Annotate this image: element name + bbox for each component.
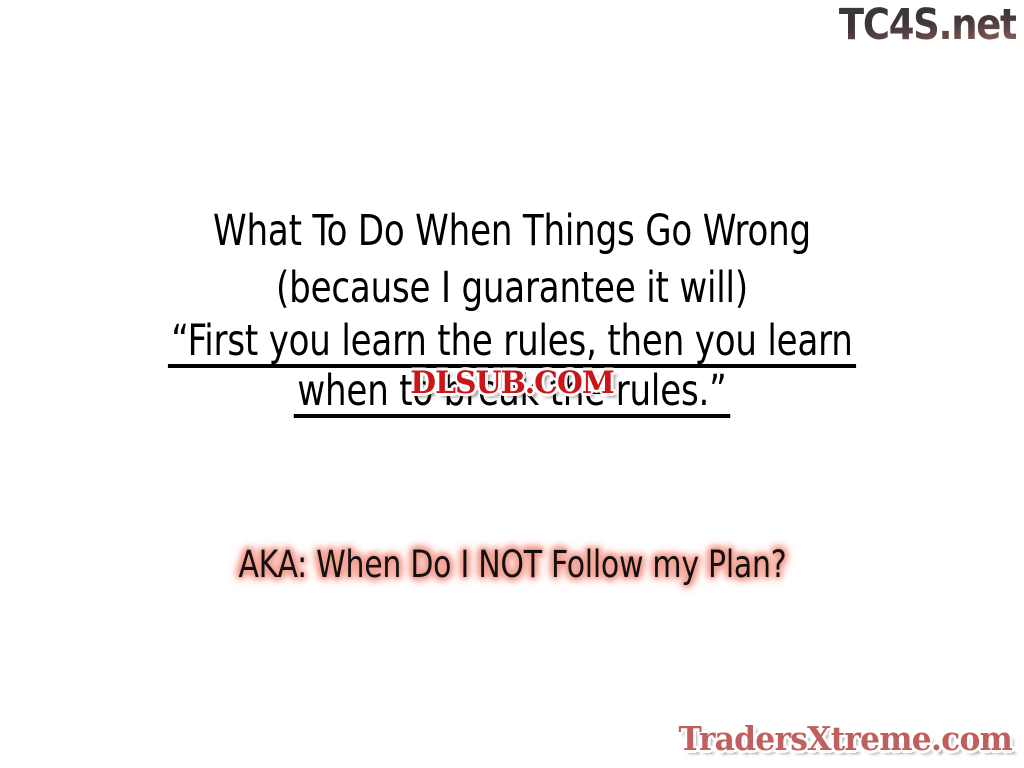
subtitle-text: AKA: When Do I NOT Follow my Plan? [238,543,786,587]
headline-line-4-wrapper: when to break the rules.” [61,367,962,417]
subtitle-block: AKA: When Do I NOT Follow my Plan? [0,543,1024,587]
slide-canvas: TC4S.net What To Do When Things Go Wrong… [0,0,1024,768]
headline-line-2: (because I guarantee it will) [61,260,962,317]
headline-line-4: when to break the rules.” [297,367,726,417]
headline-line-3: “First you learn the rules, then you lea… [171,317,852,367]
tc4s-logo: TC4S.net [838,2,1016,48]
headline-line-1: What To Do When Things Go Wrong [61,203,962,260]
headline-block: What To Do When Things Go Wrong (because… [0,203,1024,417]
tradersxtreme-logo: TradersXtreme.com [679,720,1012,758]
headline-line-3-wrapper: “First you learn the rules, then you lea… [61,317,962,367]
